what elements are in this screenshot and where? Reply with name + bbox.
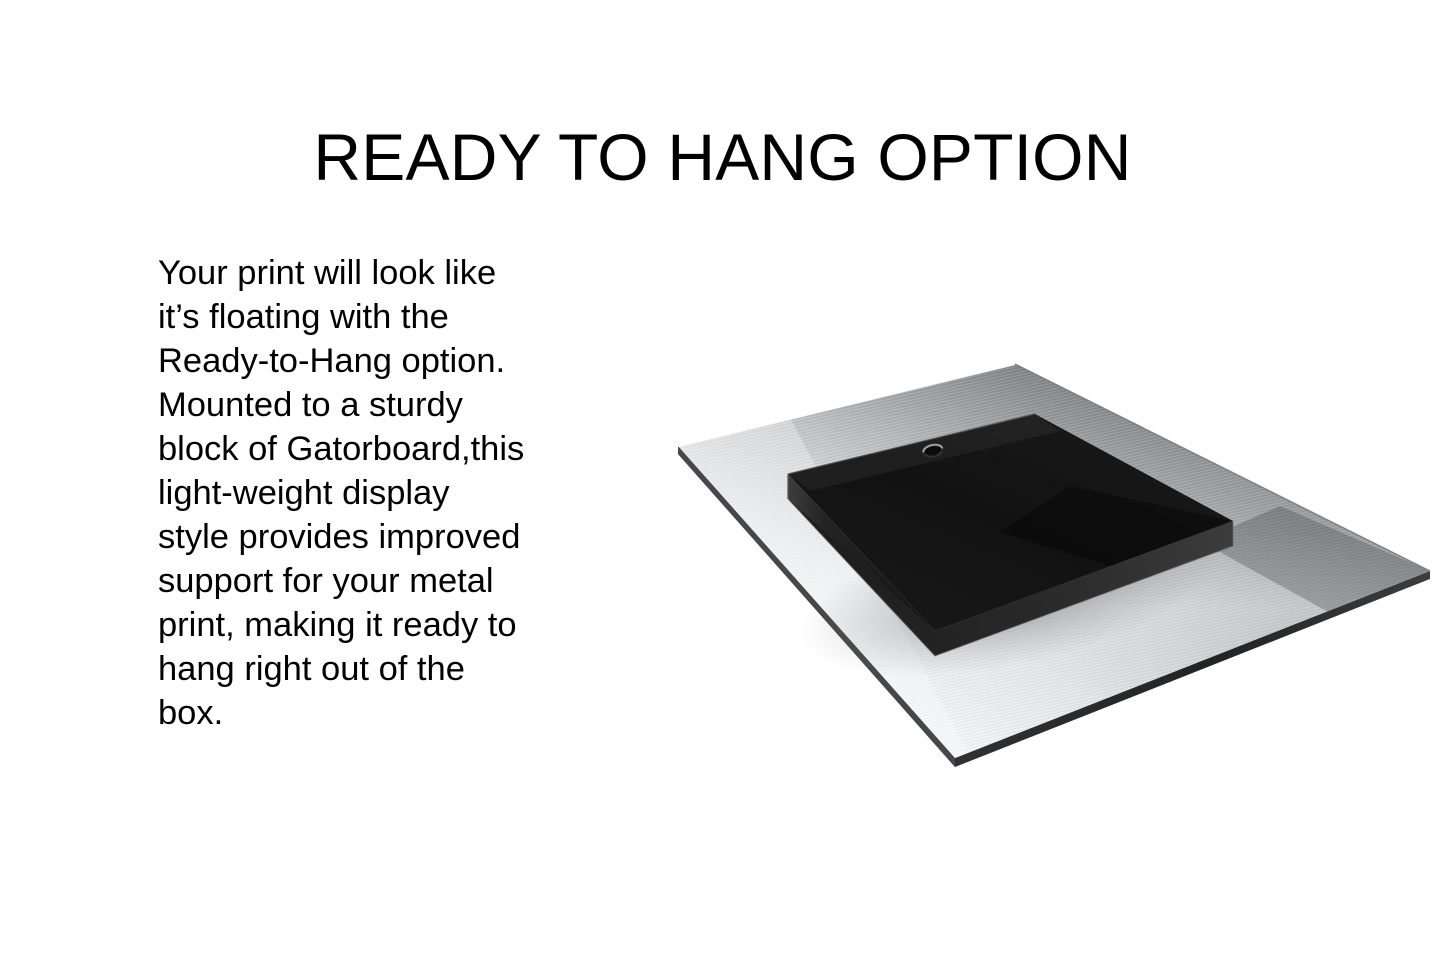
product-photo [640, 336, 1445, 786]
body-copy-line: print, making it ready to [158, 603, 568, 647]
body-copy-line: it’s floating with the [158, 295, 568, 339]
body-copy-block: Your print will look like it’s floating … [158, 251, 568, 735]
body-copy-line: light-weight display [158, 471, 568, 515]
body-copy-line: Your print will look like [158, 251, 568, 295]
body-copy-line: Ready-to-Hang option. [158, 339, 568, 383]
body-copy-line: block of Gatorboard,this [158, 427, 568, 471]
slide-canvas: READY TO HANG OPTION Your print will loo… [0, 0, 1445, 963]
body-copy-line: box. [158, 691, 568, 735]
body-copy-line: style provides improved [158, 515, 568, 559]
page-title: READY TO HANG OPTION [0, 122, 1445, 193]
body-copy-line: hang right out of the [158, 647, 568, 691]
body-copy-line: Mounted to a sturdy [158, 383, 568, 427]
ready-to-hang-product-illustration [640, 336, 1445, 786]
body-copy-line: support for your metal [158, 559, 568, 603]
